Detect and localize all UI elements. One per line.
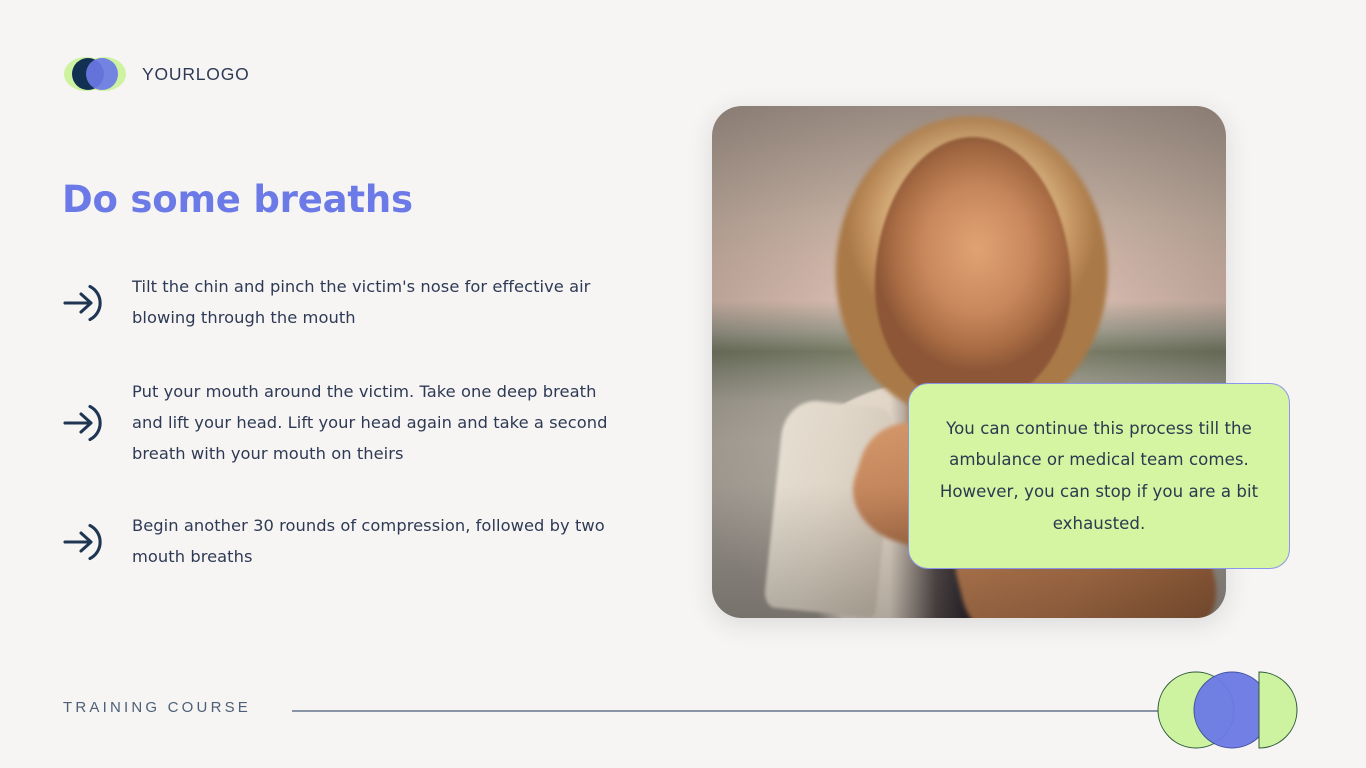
callout-text: You can continue this process till the a… xyxy=(935,413,1263,539)
arrow-right-arc-icon xyxy=(62,277,114,329)
footer-logo[interactable] xyxy=(1152,662,1302,758)
arrow-right-arc-icon xyxy=(62,397,114,449)
footer-label: TRAINING COURSE xyxy=(63,699,251,716)
list-item: Tilt the chin and pinch the victim's nos… xyxy=(62,272,642,333)
callout-box: You can continue this process till the a… xyxy=(908,383,1290,569)
header-logo[interactable]: YOURLOGO xyxy=(62,55,250,93)
page-title: Do some breaths xyxy=(62,178,413,222)
list-item: Begin another 30 rounds of compression, … xyxy=(62,511,642,572)
list-item-label: Begin another 30 rounds of compression, … xyxy=(132,511,632,572)
arrow-right-arc-icon xyxy=(62,516,114,568)
bullet-list: Tilt the chin and pinch the victim's nos… xyxy=(62,272,642,572)
list-item: Put your mouth around the victim. Take o… xyxy=(62,377,642,469)
list-item-label: Put your mouth around the victim. Take o… xyxy=(132,377,632,469)
list-item-label: Tilt the chin and pinch the victim's nos… xyxy=(132,272,632,333)
overlapping-circles-logo-icon xyxy=(62,55,128,93)
slide-canvas: YOURLOGO Do some breaths Tilt the chin a… xyxy=(0,0,1366,768)
logo-text: YOURLOGO xyxy=(142,64,250,85)
footer-divider xyxy=(292,710,1165,712)
